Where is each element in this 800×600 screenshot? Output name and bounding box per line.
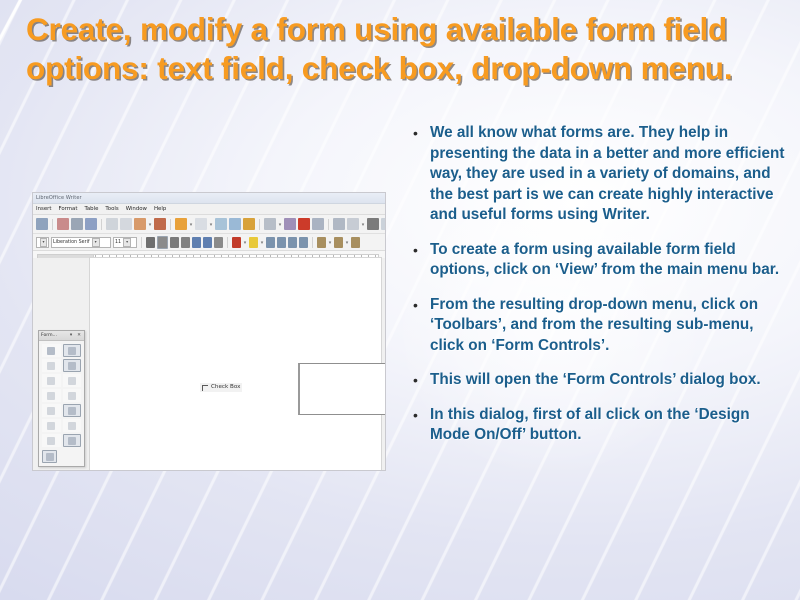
paragraph-style-combo[interactable]: ▾ — [36, 237, 49, 248]
list-box-button[interactable] — [63, 404, 82, 417]
toolbar-separator — [101, 219, 102, 230]
chevron-down-icon[interactable]: ▾ — [189, 218, 193, 230]
special-character-icon[interactable] — [367, 218, 379, 230]
list-item: • In this dialog, first of all click on … — [408, 405, 786, 446]
list-item: • To create a form using available form … — [408, 240, 786, 281]
list-box-icon — [68, 407, 76, 415]
menu-item-table[interactable]: Table — [84, 204, 98, 214]
form-controls-footer — [39, 450, 84, 466]
bullet-text: We all know what forms are. They help in… — [430, 123, 786, 226]
subscript-icon[interactable] — [203, 237, 212, 248]
design-mode-on-off-button[interactable] — [63, 344, 82, 357]
chevron-down-icon[interactable]: ▾ — [148, 218, 152, 230]
menu-bar: Insert Format Table Tools Window Help — [33, 204, 385, 215]
chevron-down-icon[interactable]: ▾ — [345, 236, 349, 248]
justify-icon[interactable] — [299, 237, 308, 248]
redo-icon[interactable] — [195, 218, 207, 230]
menu-item-format[interactable]: Format — [58, 204, 77, 214]
chevron-down-icon[interactable]: ▾ — [260, 236, 264, 248]
align-left-icon[interactable] — [266, 237, 275, 248]
formatting-marks-icon[interactable] — [243, 218, 255, 230]
cut-icon[interactable] — [106, 218, 118, 230]
toolbar-separator — [227, 237, 228, 248]
menu-item-help[interactable]: Help — [154, 204, 166, 214]
image-button-icon — [47, 437, 55, 445]
insert-table-icon[interactable] — [264, 218, 276, 230]
form-navigator-icon — [46, 453, 54, 461]
document-work-area: ···|···|···|···|···|···|··· Check Box Fo… — [33, 258, 385, 470]
formatted-field-icon — [68, 422, 76, 430]
menu-item-tools[interactable]: Tools — [105, 204, 118, 214]
document-text-field-control[interactable] — [298, 363, 385, 415]
strikethrough-icon[interactable] — [181, 237, 190, 248]
bullet-text: From the resulting drop-down menu, click… — [430, 295, 786, 357]
font-name-combo[interactable]: Liberation Serif ▾ — [51, 237, 111, 248]
print-icon[interactable] — [71, 218, 83, 230]
menu-item-window[interactable]: Window — [126, 204, 147, 214]
italic-icon[interactable] — [157, 236, 168, 249]
paste-icon[interactable] — [134, 218, 146, 230]
chevron-down-icon[interactable]: ▾ — [328, 236, 332, 248]
align-center-icon[interactable] — [277, 237, 286, 248]
undo-icon[interactable] — [175, 218, 187, 230]
print-preview-icon[interactable] — [85, 218, 97, 230]
toolbar-separator — [259, 219, 260, 230]
check-box-icon — [47, 377, 55, 385]
chevron-down-icon[interactable]: ▾ — [40, 238, 47, 247]
underline-icon[interactable] — [170, 237, 179, 248]
export-pdf-icon[interactable] — [57, 218, 69, 230]
bullet-marker-icon: • — [408, 123, 430, 144]
bullet-text: To create a form using available form fi… — [430, 240, 786, 281]
list-item: • This will open the ‘Form Controls’ dia… — [408, 370, 786, 391]
document-check-box-control[interactable]: Check Box — [200, 383, 242, 392]
formatting-toolbar: ▾ Liberation Serif ▾ 11 ▾ ▾ ▾ — [33, 234, 385, 251]
save-icon[interactable] — [36, 218, 48, 230]
chevron-down-icon[interactable]: ▾ — [123, 238, 131, 247]
check-box-button[interactable] — [42, 374, 61, 387]
select-arrow-icon — [47, 347, 55, 355]
find-replace-icon[interactable] — [229, 218, 241, 230]
check-box-label: Check Box — [211, 384, 240, 391]
font-size-value: 11 — [115, 238, 121, 247]
bullet-marker-icon: • — [408, 405, 430, 426]
label-field-button[interactable] — [63, 374, 82, 387]
copy-icon[interactable] — [120, 218, 132, 230]
image-button-button[interactable] — [42, 434, 61, 447]
superscript-icon[interactable] — [192, 237, 201, 248]
list-item: • From the resulting drop-down menu, cli… — [408, 295, 786, 357]
design-mode-icon — [68, 347, 76, 355]
toolbar-separator — [312, 237, 313, 248]
close-icon[interactable]: ✕ — [76, 331, 82, 340]
select-tool-button[interactable] — [42, 344, 61, 357]
toolbar-separator — [52, 219, 53, 230]
chevron-down-icon[interactable]: ▾ — [243, 236, 247, 248]
wizard-wand-icon — [47, 362, 55, 370]
bullet-text: This will open the ‘Form Controls’ dialo… — [430, 370, 786, 391]
option-button-icon — [68, 392, 76, 400]
label-field-icon — [68, 377, 76, 385]
check-box-icon[interactable] — [202, 385, 208, 391]
toolbar-separator — [141, 237, 142, 248]
clone-formatting-icon[interactable] — [154, 218, 166, 230]
menu-item-insert[interactable]: Insert — [36, 204, 51, 214]
form-controls-toolbar[interactable]: Form... ▾ ✕ — [38, 330, 85, 467]
bold-icon[interactable] — [146, 237, 155, 248]
formatted-field-button[interactable] — [63, 419, 82, 432]
insert-image-icon[interactable] — [284, 218, 296, 230]
slide-canvas: Create, modify a form using available fo… — [0, 0, 800, 600]
text-box-icon[interactable] — [312, 218, 324, 230]
embedded-libreoffice-screenshot: LibreOffice Writer Insert Format Table T… — [33, 193, 385, 470]
more-controls-icon — [68, 437, 76, 445]
standard-toolbar: ▾ ▾ ▾ ▾ ▾ — [33, 215, 385, 234]
chevron-down-icon[interactable]: ▾ — [361, 218, 365, 230]
text-box-icon — [47, 392, 55, 400]
toolbar-separator — [328, 219, 329, 230]
push-button-icon — [47, 407, 55, 415]
form-design-icon — [68, 362, 76, 370]
push-button-button[interactable] — [42, 404, 61, 417]
bullet-text: In this dialog, first of all click on th… — [430, 405, 786, 446]
chevron-down-icon[interactable]: ▾ — [278, 218, 282, 230]
bullet-marker-icon: • — [408, 240, 430, 261]
combo-box-icon — [47, 422, 55, 430]
insert-footnote-icon[interactable] — [381, 218, 385, 230]
unordered-list-icon[interactable] — [334, 237, 343, 248]
text-box-button[interactable] — [42, 389, 61, 402]
align-right-icon[interactable] — [288, 237, 297, 248]
chevron-down-icon[interactable]: ▾ — [92, 238, 100, 247]
decrease-indent-icon[interactable] — [351, 237, 360, 248]
page-title: Create, modify a form using available fo… — [26, 10, 778, 88]
chevron-down-icon[interactable]: ▾ — [209, 218, 213, 230]
font-size-combo[interactable]: 11 ▾ — [113, 237, 137, 248]
form-controls-titlebar[interactable]: Form... ▾ ✕ — [39, 331, 84, 341]
form-controls-title: Form... — [41, 331, 57, 340]
highlight-color-icon[interactable] — [249, 237, 258, 248]
bullet-marker-icon: • — [408, 370, 430, 391]
font-color-icon[interactable] — [232, 237, 241, 248]
form-navigator-button[interactable] — [42, 450, 57, 463]
form-design-button[interactable] — [63, 359, 82, 372]
list-item: • We all know what forms are. They help … — [408, 123, 786, 226]
bullet-list: • We all know what forms are. They help … — [408, 123, 786, 460]
insert-page-break-icon[interactable] — [333, 218, 345, 230]
option-button-button[interactable] — [63, 389, 82, 402]
form-controls-button-grid — [39, 341, 84, 450]
shadow-icon[interactable] — [214, 237, 223, 248]
font-name-value: Liberation Serif — [53, 238, 90, 247]
window-title: LibreOffice Writer — [33, 193, 385, 204]
more-controls-button[interactable] — [63, 434, 82, 447]
bullet-marker-icon: • — [408, 295, 430, 316]
document-page[interactable]: Check Box — [90, 258, 381, 470]
insert-field-icon[interactable] — [347, 218, 359, 230]
control-wizards-button[interactable] — [42, 359, 61, 372]
spelling-icon[interactable] — [215, 218, 227, 230]
ordered-list-icon[interactable] — [317, 237, 326, 248]
combo-box-button[interactable] — [42, 419, 61, 432]
chevron-down-icon[interactable]: ▾ — [68, 331, 74, 340]
insert-chart-icon[interactable] — [298, 218, 310, 230]
toolbar-separator — [170, 219, 171, 230]
